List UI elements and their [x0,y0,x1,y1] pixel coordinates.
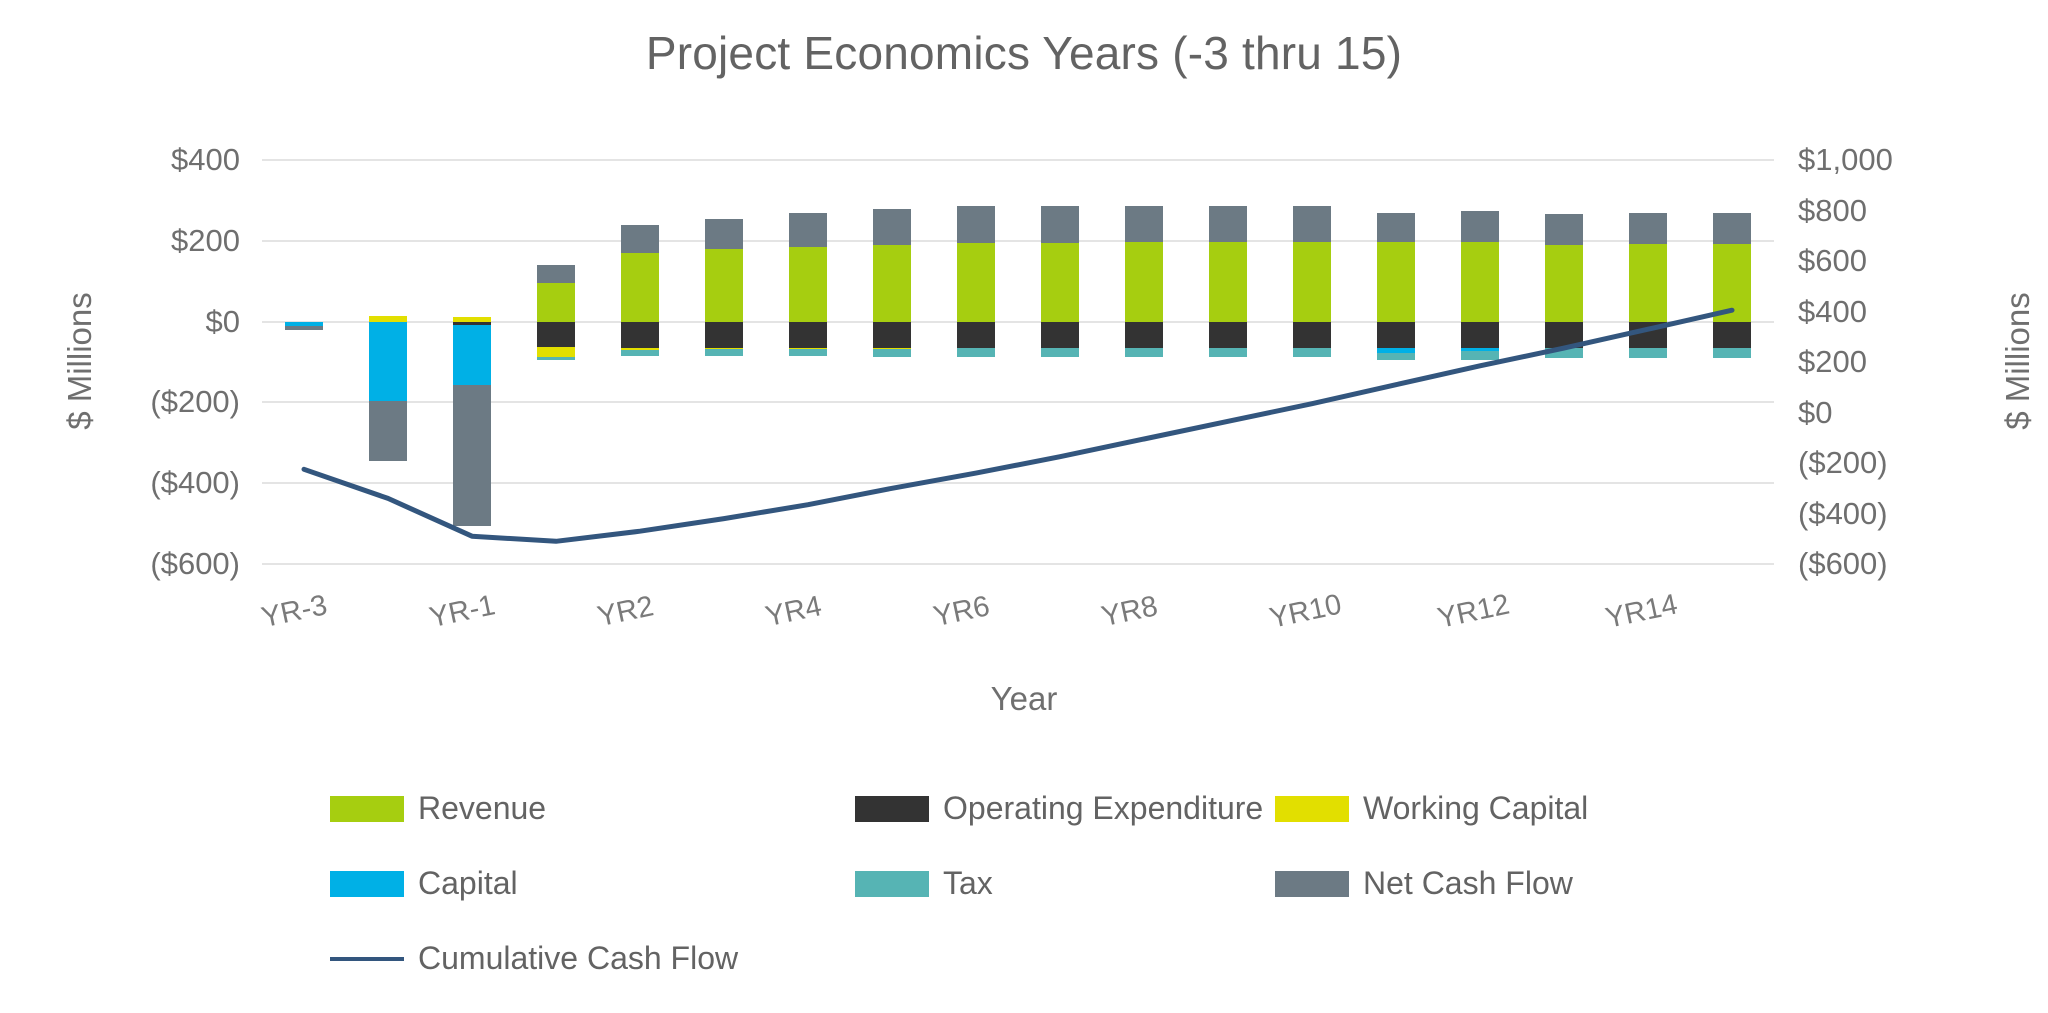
legend-label: Net Cash Flow [1363,865,1573,902]
x-tick-label: YR2 [595,590,657,634]
y-tick-label-right: $1,000 [1798,142,1893,178]
chart-title: Project Economics Years (-3 thru 15) [0,26,2048,80]
legend-item[interactable]: Working Capital [1275,790,1588,827]
legend-color-swatch [330,796,404,822]
legend-item[interactable]: Tax [855,865,993,902]
cumulative-cash-flow-line [262,160,1774,564]
y-tick-label-left: ($600) [150,546,240,582]
y-tick-label-right: $800 [1798,193,1867,229]
y-tick-label-right: $200 [1798,344,1867,380]
y-tick-label-left: $400 [171,142,240,178]
x-axis-title: Year [0,680,2048,718]
y-tick-label-left: ($200) [150,384,240,420]
legend-label: Tax [943,865,993,902]
y-tick-label-right: ($600) [1798,546,1888,582]
y-tick-label-left: ($400) [150,465,240,501]
legend-row: Cumulative Cash Flow [0,934,2048,1009]
y-tick-label-right: $400 [1798,294,1867,330]
legend-label: Revenue [418,790,546,827]
y-tick-label-right: $600 [1798,243,1867,279]
x-tick-label: YR6 [931,590,993,634]
x-tick-label: YR4 [763,590,825,634]
y-tick-label-right: $0 [1798,395,1832,431]
legend-color-swatch [1275,871,1349,897]
y-tick-label-right: ($400) [1798,496,1888,532]
y-axis-title-left: $ Millions [61,261,99,461]
y-tick-label-left: $0 [206,304,240,340]
legend-label: Cumulative Cash Flow [418,940,738,977]
legend-color-swatch [1275,796,1349,822]
y-tick-label-right: ($200) [1798,445,1888,481]
legend-label: Operating Expenditure [943,790,1263,827]
chart-canvas: Project Economics Years (-3 thru 15) $ M… [0,0,2048,1013]
y-tick-label-left: $200 [171,223,240,259]
legend-item[interactable]: Net Cash Flow [1275,865,1573,902]
legend-row: CapitalTaxNet Cash Flow [0,859,2048,934]
x-tick-label: YR14 [1603,588,1681,635]
cumulative-cash-flow-polyline [304,310,1732,541]
legend-line-swatch [330,957,404,961]
legend-color-swatch [855,871,929,897]
legend-color-swatch [330,871,404,897]
y-axis-title-right: $ Millions [1999,261,2037,461]
x-tick-label: YR-3 [259,589,330,635]
legend-label: Working Capital [1363,790,1588,827]
x-tick-label: YR8 [1099,590,1161,634]
legend-row: RevenueOperating ExpenditureWorking Capi… [0,784,2048,859]
legend-item[interactable]: Cumulative Cash Flow [330,940,738,977]
legend-color-swatch [855,796,929,822]
legend-item[interactable]: Operating Expenditure [855,790,1263,827]
chart-legend: RevenueOperating ExpenditureWorking Capi… [0,784,2048,1009]
x-tick-label: YR-1 [427,589,498,635]
x-tick-label: YR12 [1435,588,1513,635]
legend-item[interactable]: Capital [330,865,518,902]
legend-label: Capital [418,865,518,902]
legend-item[interactable]: Revenue [330,790,546,827]
x-tick-label: YR10 [1267,588,1345,635]
plot-area [262,160,1774,564]
